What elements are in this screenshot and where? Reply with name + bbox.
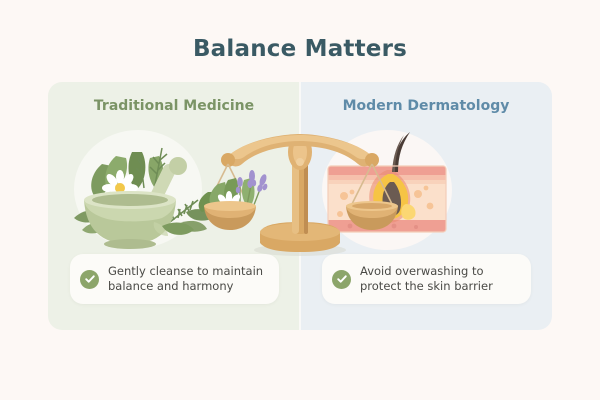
mortar-pestle-herbs-icon xyxy=(58,126,218,256)
panel-title-traditional: Traditional Medicine xyxy=(48,98,300,114)
caption-text-modern: Avoid overwashing to protect the skin ba… xyxy=(360,264,521,294)
page-title: Balance Matters xyxy=(0,36,600,62)
balance-scale-icon xyxy=(196,122,404,258)
caption-card-traditional: Gently cleanse to maintain balance and h… xyxy=(70,254,279,304)
caption-card-modern: Avoid overwashing to protect the skin ba… xyxy=(322,254,531,304)
check-circle-icon xyxy=(332,270,351,289)
caption-text-traditional: Gently cleanse to maintain balance and h… xyxy=(108,264,269,294)
check-circle-icon xyxy=(80,270,99,289)
panel-title-modern: Modern Dermatology xyxy=(300,98,552,114)
infographic-canvas: Balance Matters Traditional Medicine xyxy=(0,0,600,400)
